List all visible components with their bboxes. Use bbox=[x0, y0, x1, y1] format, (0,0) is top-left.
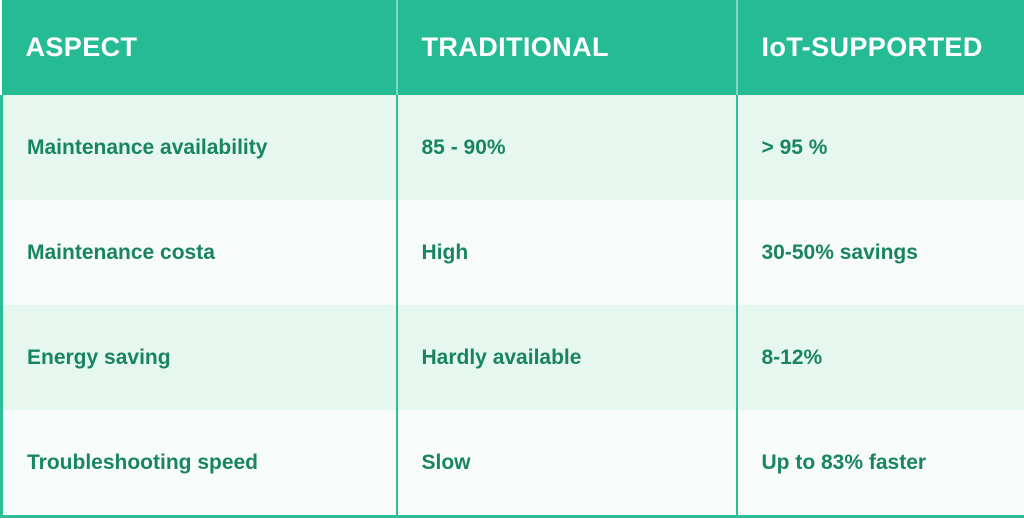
cell-traditional: High bbox=[397, 200, 737, 305]
table-header: ASPECT TRADITIONAL IoT-SUPPORTED bbox=[2, 0, 1024, 95]
column-header-iot-supported: IoT-SUPPORTED bbox=[737, 0, 1024, 95]
cell-iot-supported: > 95 % bbox=[737, 95, 1024, 200]
column-header-traditional: TRADITIONAL bbox=[397, 0, 737, 95]
cell-iot-supported: 8-12% bbox=[737, 305, 1024, 410]
table-row: Troubleshooting speed Slow Up to 83% fas… bbox=[2, 410, 1024, 517]
column-header-aspect: ASPECT bbox=[2, 0, 397, 95]
cell-traditional: 85 - 90% bbox=[397, 95, 737, 200]
cell-iot-supported: 30-50% savings bbox=[737, 200, 1024, 305]
comparison-table: ASPECT TRADITIONAL IoT-SUPPORTED Mainten… bbox=[0, 0, 1024, 518]
table-row: Maintenance availability 85 - 90% > 95 % bbox=[2, 95, 1024, 200]
cell-traditional: Slow bbox=[397, 410, 737, 517]
cell-aspect: Troubleshooting speed bbox=[2, 410, 397, 517]
cell-aspect: Maintenance costa bbox=[2, 200, 397, 305]
table-row: Energy saving Hardly available 8-12% bbox=[2, 305, 1024, 410]
cell-iot-supported: Up to 83% faster bbox=[737, 410, 1024, 517]
cell-aspect: Maintenance availability bbox=[2, 95, 397, 200]
cell-aspect: Energy saving bbox=[2, 305, 397, 410]
table-body: Maintenance availability 85 - 90% > 95 %… bbox=[2, 95, 1024, 517]
cell-traditional: Hardly available bbox=[397, 305, 737, 410]
table-header-row: ASPECT TRADITIONAL IoT-SUPPORTED bbox=[2, 0, 1024, 95]
table-row: Maintenance costa High 30-50% savings bbox=[2, 200, 1024, 305]
